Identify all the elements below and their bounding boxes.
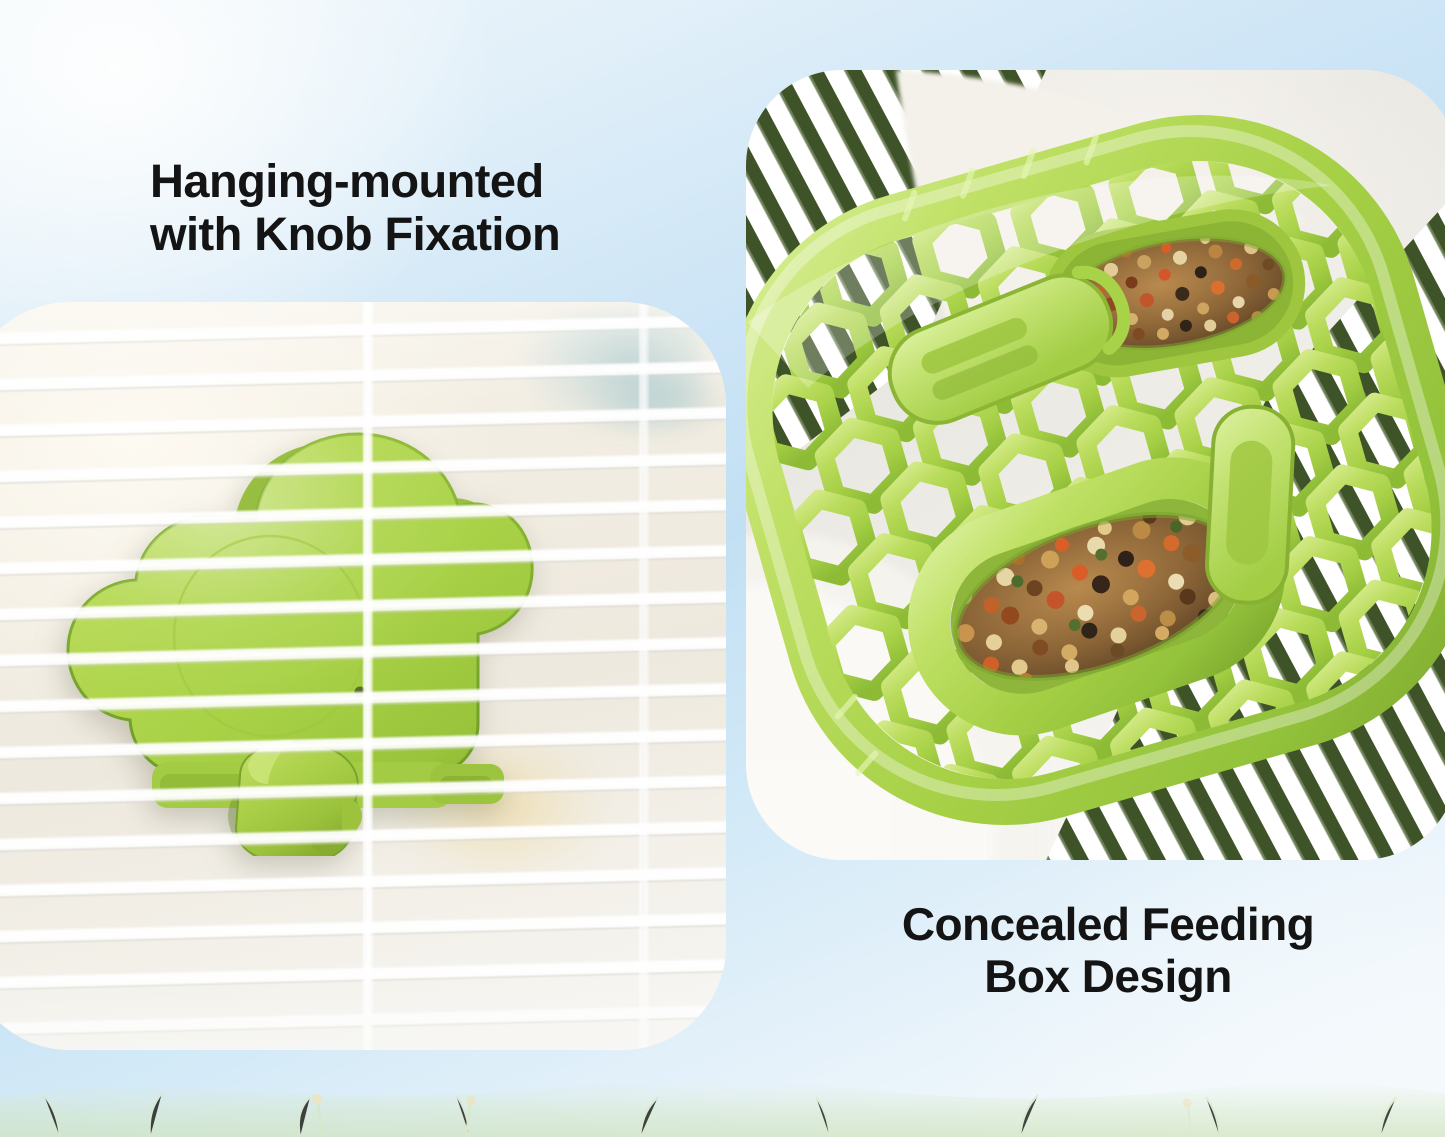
cloud-mount-plate <box>42 424 542 856</box>
dandelion-stalks <box>312 1094 1192 1137</box>
dandelion-stalk <box>466 1096 476 1137</box>
feeder-scene <box>746 70 1445 860</box>
twist-knob <box>228 740 362 856</box>
heading-line: Concealed Feeding <box>848 898 1368 950</box>
dandelion-stalk <box>1183 1099 1192 1137</box>
feature-heading-concealed-feeding-box: Concealed Feeding Box Design <box>848 898 1368 1002</box>
grass-silhouette <box>0 1081 1445 1137</box>
feeder-photo <box>746 70 1445 860</box>
heading-line: Hanging-mounted <box>150 154 670 207</box>
heading-line: Box Design <box>848 950 1368 1002</box>
cloud-plate-body <box>68 434 532 776</box>
feature-heading-hanging-mount: Hanging-mounted with Knob Fixation <box>150 154 670 261</box>
cage-mount-photo <box>0 302 726 1050</box>
heading-line: with Knob Fixation <box>150 207 670 260</box>
grass-blades <box>44 1093 1396 1137</box>
vent-hole <box>355 687 366 698</box>
backdrop-seam <box>642 302 645 1050</box>
window-glint-secondary <box>586 366 726 436</box>
dandelion-stalk <box>312 1094 322 1137</box>
feature-panel-canvas: Hanging-mounted with Knob Fixation Conce… <box>0 0 1445 1137</box>
lower-box-lid <box>1205 405 1295 605</box>
